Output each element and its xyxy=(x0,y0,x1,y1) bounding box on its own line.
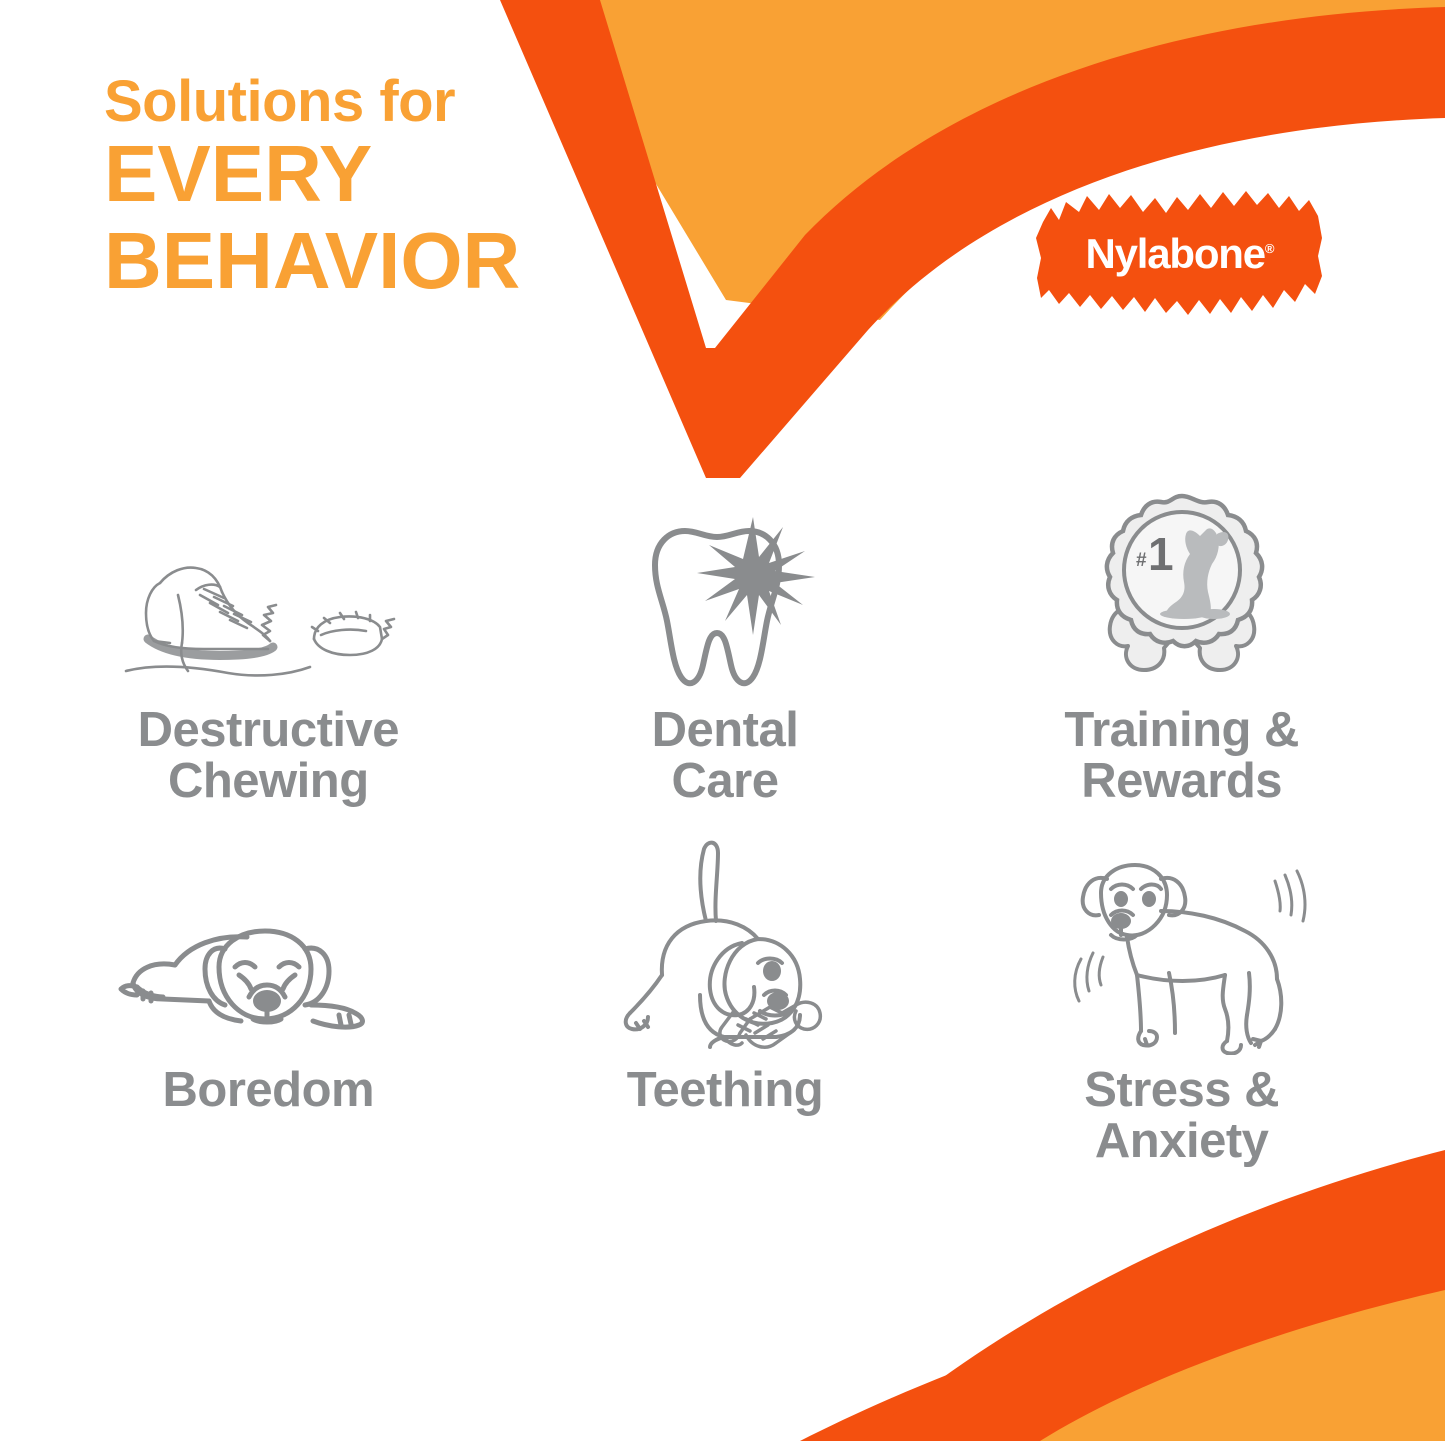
rosette-number-text: # xyxy=(1136,550,1147,571)
puppy-chewing-toy-icon xyxy=(600,860,850,1055)
headline-line-2: EVERY xyxy=(104,131,724,217)
page-title: Solutions for EVERY BEHAVIOR xyxy=(104,72,724,304)
behavior-label: Destructive Chewing xyxy=(138,705,399,808)
registered-trademark-icon: ® xyxy=(1265,241,1275,256)
behavior-label: Training & Rewards xyxy=(1064,705,1299,808)
chewed-shoe-icon xyxy=(118,500,418,695)
behavior-grid: Destructive Chewing Dental Care xyxy=(40,500,1410,1220)
headline-line-3: BEHAVIOR xyxy=(104,218,724,304)
behavior-item-boredom[interactable]: Boredom xyxy=(40,860,497,1220)
behavior-label: Teething xyxy=(627,1065,824,1116)
logo-wordmark-text: Nylabone xyxy=(1085,230,1264,277)
behavior-item-stress-anxiety[interactable]: Stress & Anxiety xyxy=(953,860,1410,1220)
anxious-trembling-dog-icon xyxy=(1049,860,1314,1055)
poster-canvas: Solutions for EVERY BEHAVIOR Nylabone® xyxy=(0,0,1445,1441)
behavior-label: Dental Care xyxy=(652,705,799,808)
behavior-label: Boredom xyxy=(163,1065,375,1116)
number-one-award-rosette-icon: # 1 xyxy=(1072,500,1292,695)
sparkling-tooth-icon xyxy=(625,500,825,695)
bottom-light-band xyxy=(1040,1290,1445,1441)
logo-wordmark: Nylabone® xyxy=(1035,230,1325,278)
bored-lying-puppy-icon xyxy=(113,860,423,1055)
behavior-item-teething[interactable]: Teething xyxy=(497,860,954,1220)
headline-line-1: Solutions for xyxy=(104,72,724,131)
behavior-label: Stress & Anxiety xyxy=(1084,1065,1279,1168)
behavior-item-dental-care[interactable]: Dental Care xyxy=(497,500,954,860)
nylabone-logo[interactable]: Nylabone® xyxy=(1035,186,1325,318)
behavior-item-destructive-chewing[interactable]: Destructive Chewing xyxy=(40,500,497,860)
behavior-item-training-rewards[interactable]: # 1 Training & Rewards xyxy=(953,500,1410,860)
svg-text:1: 1 xyxy=(1148,528,1174,580)
